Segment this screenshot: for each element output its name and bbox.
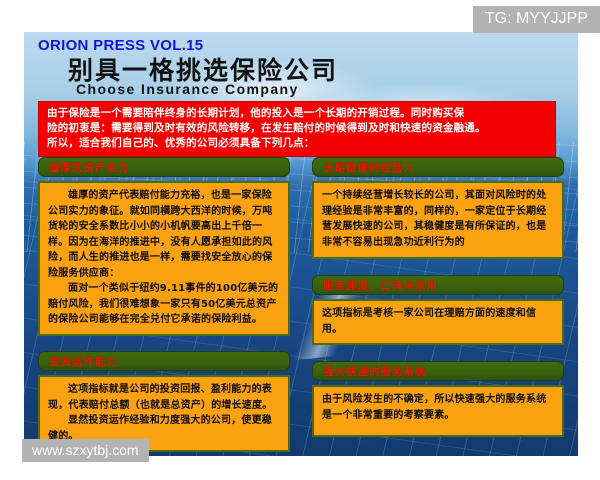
presentation-slide: ORION PRESS VOL.15 别具一格挑选保险公司 Choose Ins… <box>24 32 578 456</box>
intro-line-2: 险的初衷是：需要得到及时有效的风险转移，在发生赔付的时候得到及时和快速的资金融通… <box>47 121 547 136</box>
section-service: 服务速度、口碑与信用 这项指标是考核一家公司在理赔方面的速度和信用。 <box>312 275 564 345</box>
paragraph: 一个持续经营增长较长的公司，其面对风险时的处理经验是非常丰富的，同样的，一家定位… <box>322 188 554 250</box>
section-assets: 雄厚的资产实力 雄厚的资产代表赔付能力充裕，也是一家保险公司实力的象征。就如同横… <box>38 157 290 336</box>
slide-header: ORION PRESS VOL.15 别具一格挑选保险公司 Choose Ins… <box>24 32 578 96</box>
paragraph: 这项指标是考核一家公司在理赔方面的速度和信用。 <box>322 306 554 337</box>
intro-line-1: 由于保险是一个需要陪伴终身的长期计划，他的投入是一个长期的开销过程。同时购买保 <box>47 106 547 121</box>
paragraph: 雄厚的资产代表赔付能力充裕，也是一家保险公司实力的象征。就如同横跨大西洋的时候，… <box>48 188 280 281</box>
watermark-website: www.szxytbj.com <box>22 439 149 462</box>
section-network: 强大快速的服务系统 由于风险发生的不确定，所以快速强大的服务系统是一个非常重要的… <box>312 361 564 437</box>
section-heading-network[interactable]: 强大快速的服务系统 <box>312 361 564 381</box>
section-body-operation: 一个持续经营增长较长的公司，其面对风险时的处理经验是非常丰富的，同样的，一家定位… <box>312 181 564 259</box>
section-body-assets: 雄厚的资产代表赔付能力充裕，也是一家保险公司实力的象征。就如同横跨大西洋的时候，… <box>38 181 290 336</box>
section-heading-assets[interactable]: 雄厚的资产实力 <box>38 157 290 177</box>
slide-title-en: Choose Insurance Company <box>76 81 299 97</box>
paragraph: 这项指标就是公司的投资回报、盈利能力的表现，代表赔付总额（也就是总资产）的增长速… <box>48 382 280 413</box>
paragraph: 面对一个类似于纽约9.11事件的100亿美元的赔付风险，我们很难想象一家只有50… <box>48 281 280 328</box>
section-investment: 投资运作能力 这项指标就是公司的投资回报、盈利能力的表现，代表赔付总额（也就是总… <box>38 351 290 452</box>
intro-banner: 由于保险是一个需要陪伴终身的长期计划，他的投入是一个长期的开销过程。同时购买保 … <box>38 101 556 157</box>
section-heading-investment[interactable]: 投资运作能力 <box>38 351 290 371</box>
intro-line-3: 所以，适合我们自己的、优秀的公司必须具备下列几点： <box>47 136 547 151</box>
section-heading-operation[interactable]: 长期稳健的经营人 <box>312 157 564 177</box>
section-body-network: 由于风险发生的不确定，所以快速强大的服务系统是一个非常重要的考察要素。 <box>312 385 564 437</box>
paragraph: 由于风险发生的不确定，所以快速强大的服务系统是一个非常重要的考察要素。 <box>322 392 554 423</box>
section-body-service: 这项指标是考核一家公司在理赔方面的速度和信用。 <box>312 299 564 345</box>
watermark-telegram: TG: MYYJJPP <box>473 6 600 33</box>
section-operation: 长期稳健的经营人 一个持续经营增长较长的公司，其面对风险时的处理经验是非常丰富的… <box>312 157 564 259</box>
section-heading-service[interactable]: 服务速度、口碑与信用 <box>312 275 564 295</box>
